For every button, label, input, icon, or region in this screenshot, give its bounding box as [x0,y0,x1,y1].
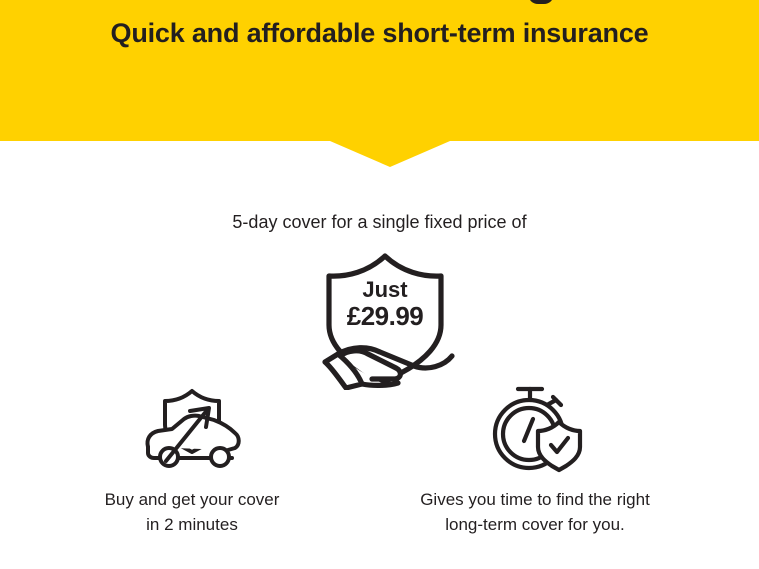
feature-caption-right-line1: Gives you time to find the right [375,488,695,513]
feature-caption-left-line1: Buy and get your cover [32,488,352,513]
stopwatch-shield-check-icon [375,382,695,474]
stopwatch-shield-check-graphic [483,381,587,475]
feature-caption-left-line2: in 2 minutes [32,513,352,538]
car-shield-arrow-graphic [136,385,248,471]
feature-caption-right: Gives you time to find the right long-te… [375,488,695,537]
price-lead-text: 5-day cover for a single fixed price of [0,212,759,233]
banner-notch [330,141,450,167]
car-shield-arrow-icon [32,382,352,474]
cut-off-headline-descender [528,0,554,4]
header-banner: Quick and affordable short-term insuranc… [0,0,759,141]
feature-buy-speed: Buy and get your cover in 2 minutes [32,382,352,537]
feature-long-term-time: Gives you time to find the right long-te… [375,382,695,537]
feature-caption-right-line2: long-term cover for you. [375,513,695,538]
feature-caption-left: Buy and get your cover in 2 minutes [32,488,352,537]
shield-in-hand-icon: Just £29.99 [310,250,460,390]
shield-in-hand-graphic [310,250,460,390]
banner-subtitle: Quick and affordable short-term insuranc… [0,18,759,49]
